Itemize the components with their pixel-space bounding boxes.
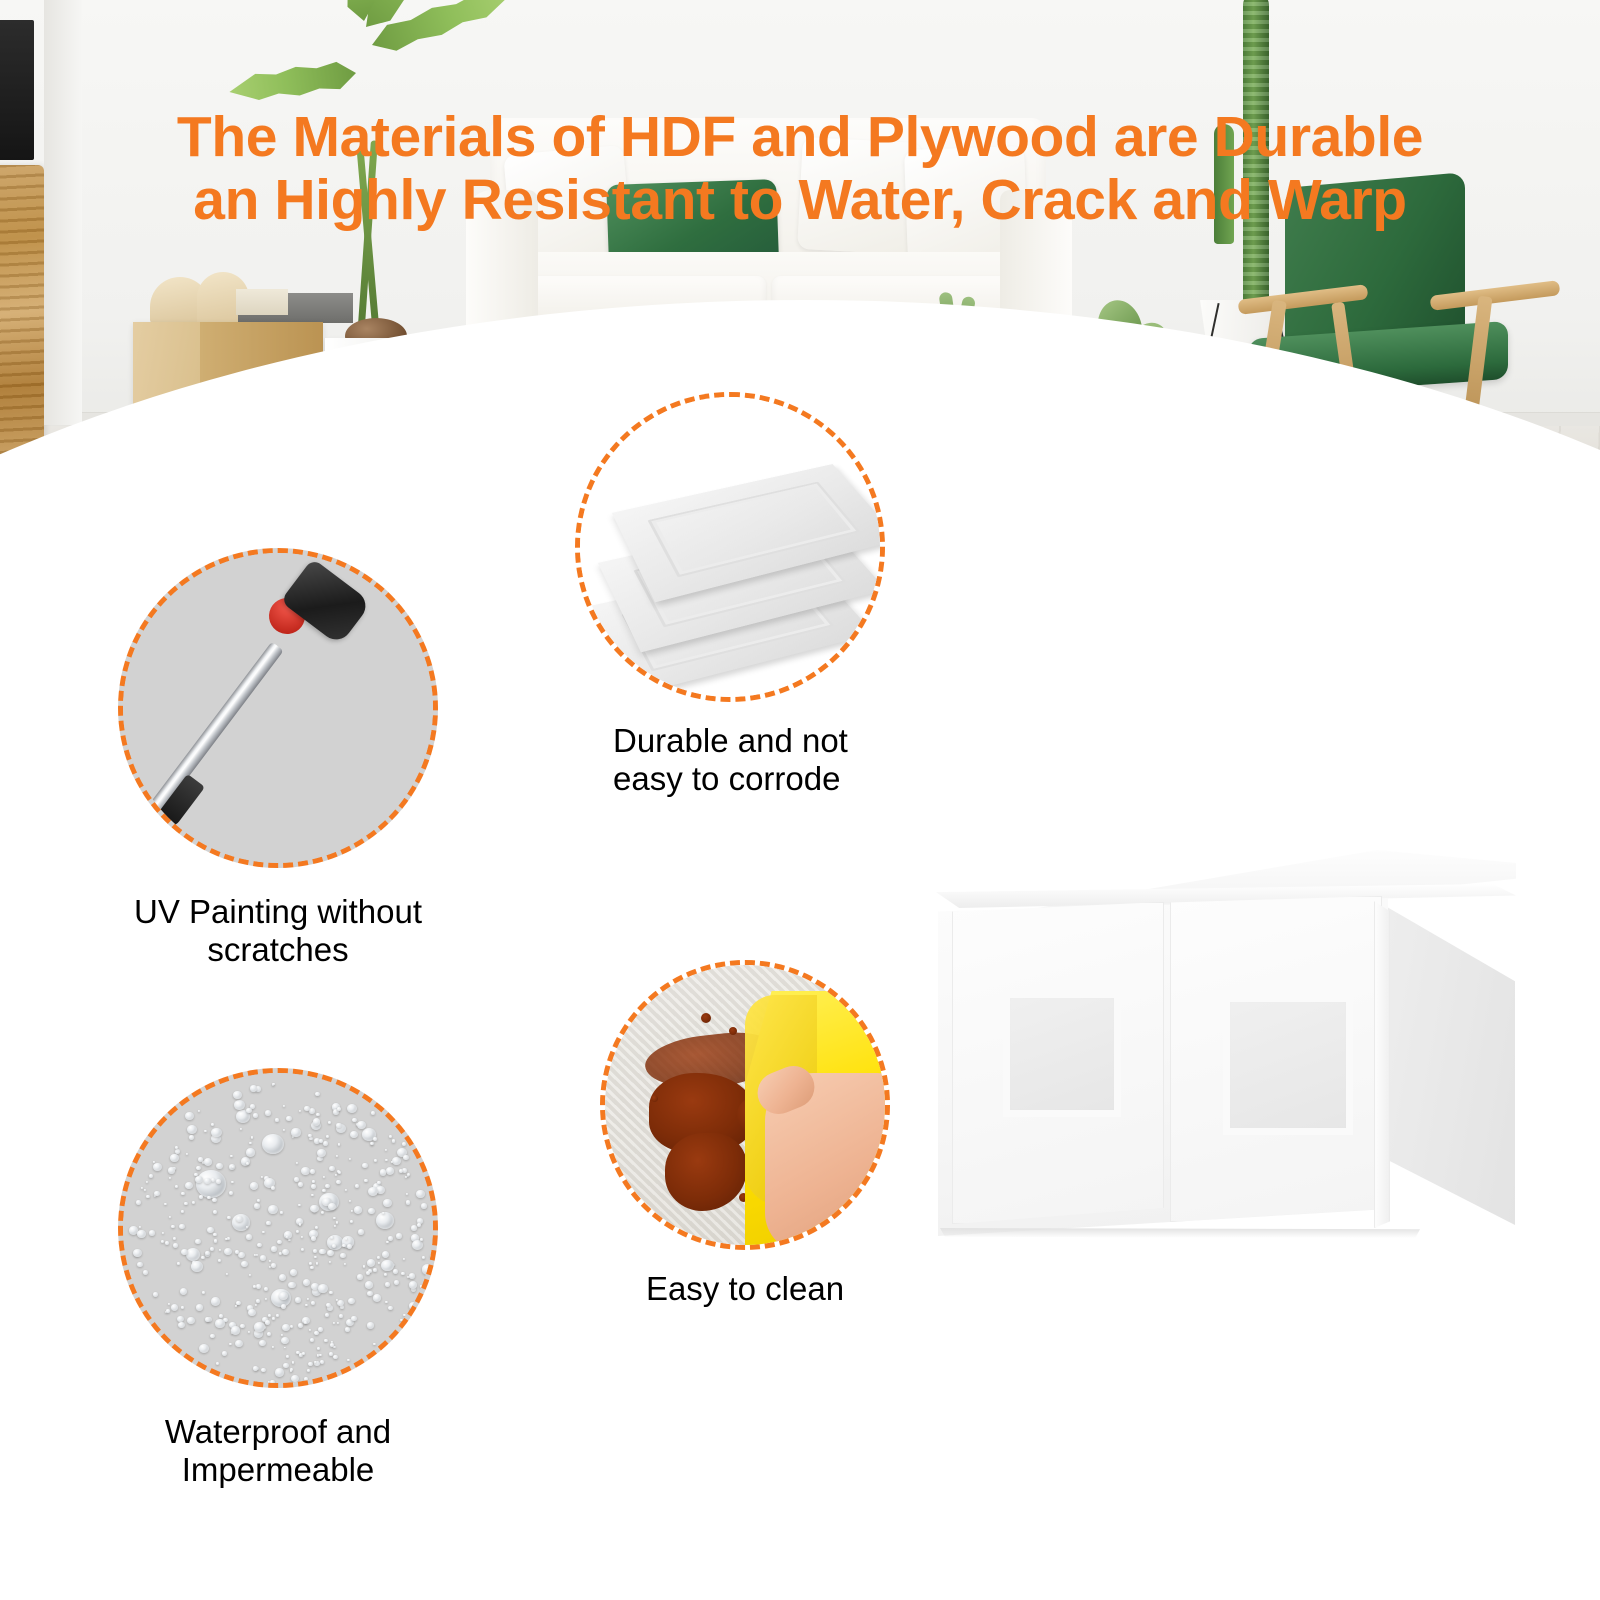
water-droplet [377,1181,381,1184]
water-droplet [347,1104,357,1113]
water-droplet [305,1304,307,1306]
water-droplet [171,1304,179,1311]
water-droplet [249,1274,251,1276]
water-droplet [211,1297,220,1306]
water-droplet [261,1176,264,1179]
water-droplet [216,1362,219,1365]
water-droplet [317,1149,326,1157]
water-droplet [298,1204,301,1207]
water-droplet [271,1186,275,1190]
water-droplet [256,1284,262,1289]
water-droplet [283,1105,285,1107]
water-droplet [304,1321,307,1324]
water-droplet [296,1162,298,1164]
water-droplet [226,1273,228,1275]
water-droplet [313,1249,317,1252]
water-droplet [259,1340,266,1346]
water-droplet [421,1203,427,1208]
water-droplet [181,1306,184,1308]
water-droplet [187,1317,194,1324]
water-droplet [368,1187,378,1196]
water-droplet [276,1314,278,1316]
water-droplet [219,1249,221,1251]
water-droplet [385,1149,387,1151]
water-droplet [291,1375,299,1382]
water-droplet [336,1299,338,1301]
water-droplet [355,1184,359,1188]
water-droplet [246,1148,255,1157]
water-droplet [216,1163,222,1169]
water-droplet [231,1181,234,1184]
water-droplet [334,1225,336,1227]
water-droplet [327,1250,333,1256]
water-droplet [383,1199,392,1207]
cabinet-door-left [952,902,1164,1224]
water-droplet [385,1159,388,1161]
water-droplet [268,1314,272,1318]
water-droplet [336,1221,338,1223]
water-droplet [165,1241,169,1245]
water-droplet [146,1195,149,1198]
water-droplet [374,1159,377,1162]
water-droplet [333,1346,335,1348]
water-droplet [279,1292,288,1300]
water-droplet [422,1264,433,1274]
water-droplet [260,1255,266,1260]
water-droplet [213,1210,217,1214]
water-droplet [301,1167,310,1175]
water-droplet [227,1216,231,1220]
water-droplet [323,1141,328,1145]
water-droplet [229,1191,233,1195]
water-droplet [351,1210,353,1212]
water-droplet [186,1153,189,1155]
water-droplet [288,1239,290,1241]
water-droplet [199,1344,209,1353]
water-droplet [281,1337,289,1344]
water-droplet [392,1139,396,1142]
page-title: The Materials of HDF and Plywood are Dur… [0,108,1600,229]
water-droplet [249,1142,252,1145]
water-droplet [345,1189,347,1191]
water-droplet [311,1184,316,1189]
water-droplet [230,1155,233,1157]
water-droplet [275,1368,284,1377]
water-droplet [367,1291,373,1296]
water-droplet [143,1270,149,1275]
water-droplet [198,1110,200,1112]
water-droplet [326,1303,331,1307]
water-droplet [185,1112,194,1121]
water-droplet [362,1163,368,1169]
water-droplet [246,1162,249,1165]
water-droplet [240,1324,245,1329]
water-droplet [311,1301,315,1305]
water-droplet [187,1125,197,1134]
water-droplet [280,1211,283,1213]
water-droplet [311,1194,313,1196]
water-droplet [195,1176,203,1184]
water-droplet [240,1128,242,1130]
water-droplet [417,1223,421,1227]
water-droplet [181,1249,188,1255]
water-droplet [323,1176,326,1179]
water-droplet [175,1185,178,1188]
water-droplet [271,1246,277,1252]
water-droplet [380,1169,387,1175]
water-droplet [385,1301,387,1303]
water-droplet [420,1285,423,1288]
water-droplet [384,1273,387,1276]
water-droplet [292,1361,295,1364]
water-droplet [264,1287,268,1291]
water-droplet [315,1226,318,1229]
water-droplet [215,1319,224,1328]
water-droplet [256,1299,260,1303]
water-droplet [166,1309,170,1312]
water-droplet [184,1202,187,1205]
water-droplet [219,1314,224,1318]
water-droplet [301,1248,304,1251]
water-droplet [382,1251,390,1258]
water-droplet [325,1313,329,1317]
water-droplet [320,1360,324,1364]
water-droplet [282,1249,289,1255]
water-droplet [262,1134,284,1154]
water-droplet [277,1240,282,1244]
water-droplet [349,1200,351,1202]
water-droplet [261,1368,266,1373]
water-droplet [328,1203,336,1211]
water-droplet [399,1169,403,1173]
water-droplet [396,1233,402,1238]
water-droplet [246,1226,248,1228]
water-droplet [338,1171,341,1174]
water-droplet [416,1190,424,1198]
water-droplet [333,1217,336,1220]
water-droplet [319,1249,325,1255]
water-droplet [265,1320,270,1325]
water-droplet [298,1323,303,1328]
water-droplet [367,1322,374,1328]
water-droplet [388,1236,393,1241]
water-droplet [265,1110,272,1116]
water-droplet [299,1223,302,1225]
water-droplet [409,1302,418,1310]
water-droplet [357,1274,363,1279]
water-droplet [347,1244,352,1249]
water-droplet [168,1167,175,1173]
water-droplet [299,1110,301,1112]
water-droplet [253,1285,256,1288]
water-droplet [319,1139,323,1142]
water-droplet [275,1118,279,1121]
water-droplet [286,1355,289,1358]
water-droplet [321,1211,324,1214]
water-droplet [211,1128,221,1137]
water-droplet [290,1370,292,1372]
water-droplet [169,1216,171,1218]
water-droplet [403,1155,409,1160]
water-droplet [253,1113,258,1117]
water-droplet [363,1265,366,1268]
water-droplet [267,1332,271,1336]
water-droplet [310,1266,313,1269]
water-droplet [307,1369,310,1372]
water-droplet [164,1203,166,1205]
water-droplet [350,1220,353,1223]
water-droplet [330,1236,334,1239]
water-droplet [269,1260,271,1262]
water-droplet [329,1261,331,1263]
water-droplet [198,1157,204,1162]
water-droplet [171,1225,175,1229]
water-droplet [254,1203,260,1209]
water-droplet [133,1249,142,1257]
water-droplet [185,1182,193,1189]
water-droplet [177,1262,180,1265]
water-droplet [173,1243,179,1248]
water-droplet [371,1111,376,1115]
water-droplet [268,1205,278,1214]
water-droplet [218,1259,222,1262]
water-droplet [336,1155,338,1157]
water-droplet [231,1326,240,1334]
water-droplet [257,1243,261,1247]
headline-line-1: The Materials of HDF and Plywood are Dur… [177,105,1423,169]
water-droplet [254,1254,256,1256]
water-droplet [386,1167,395,1175]
water-droplet [388,1306,393,1311]
water-droplet [368,1208,375,1214]
headline-line-2: an Highly Resistant to Water, Crack and … [0,171,1600,229]
feature-caption-easy-clean: Easy to clean [645,1270,845,1308]
water-droplet [281,1334,283,1336]
water-droplet [326,1135,329,1138]
water-droplet [283,1363,289,1369]
water-droplet [304,1106,309,1111]
water-droplet [295,1297,301,1302]
water-droplet [316,1262,319,1264]
water-droplet [322,1189,326,1192]
water-droplet [210,1334,214,1338]
water-droplet [317,1347,320,1350]
water-droplet [178,1322,185,1328]
water-droplet [195,1239,200,1244]
water-droplet [162,1232,164,1234]
water-droplet [211,1123,214,1126]
water-droplet [411,1225,417,1231]
water-droplet [377,1256,380,1259]
water-droplet [333,1355,338,1360]
water-droplet [309,1262,312,1265]
water-droplet [304,1377,309,1381]
water-droplet [364,1179,368,1182]
water-droplet [181,1192,185,1196]
water-droplet [318,1284,328,1293]
water-droplet [254,1322,264,1332]
water-droplet [236,1301,241,1305]
water-droplet [153,1163,162,1171]
water-droplet [314,1256,316,1258]
water-droplet [340,1253,346,1258]
water-droplet [201,1256,205,1260]
water-droplet [229,1343,231,1345]
water-droplet [192,1201,195,1204]
water-droplet [367,1259,375,1267]
water-droplet [339,1314,343,1318]
water-droplet [144,1189,146,1191]
water-droplet [233,1091,242,1099]
water-droplet [246,1108,251,1113]
water-droplet [350,1131,358,1138]
water-droplet [225,1238,228,1241]
water-droplet [365,1281,373,1289]
water-droplet [335,1174,337,1176]
water-droplet [352,1118,357,1123]
water-droplet [283,1129,285,1131]
water-droplet [205,1317,210,1321]
water-droplet [402,1142,406,1146]
water-droplet [303,1279,310,1285]
water-droplet [307,1298,309,1300]
water-droplet [204,1158,213,1166]
water-droplet [314,1331,319,1335]
water-droplet [262,1231,265,1234]
water-droplet [234,1100,245,1110]
water-droplet [302,1352,305,1355]
water-droplet [338,1143,341,1145]
water-droplet [265,1298,267,1300]
water-droplet [392,1157,401,1165]
water-droplet [409,1273,415,1278]
water-droplet [290,1269,297,1275]
water-droplet [337,1107,341,1111]
water-droplet [309,1137,313,1141]
water-droplet [207,1196,210,1199]
water-droplet [373,1268,377,1271]
water-droplet [394,1280,399,1285]
water-droplet [213,1233,217,1236]
water-droplet [284,1347,286,1349]
water-droplet [224,1248,232,1255]
water-droplet [313,1118,321,1125]
water-droplet [382,1212,384,1214]
water-droplet [298,1182,303,1187]
water-droplet [170,1154,178,1162]
water-droplet [196,1166,201,1170]
water-droplet [169,1177,171,1179]
water-droplet [272,1317,275,1320]
water-droplet [212,1198,217,1203]
water-droplet [146,1181,148,1183]
water-droplet [270,1380,275,1384]
water-droplet [403,1258,405,1260]
water-droplet [214,1239,218,1242]
water-droplet [301,1236,303,1238]
water-droplet [412,1240,423,1250]
water-droplet [406,1193,409,1195]
water-droplet [173,1237,176,1240]
water-droplet [136,1200,141,1205]
cabinet-door-right [1170,896,1382,1222]
water-droplet [137,1262,143,1267]
water-droplet [316,1113,319,1116]
water-droplet [336,1123,341,1128]
water-droplet [250,1182,258,1190]
water-droplet [246,1234,252,1240]
water-droplet [401,1272,405,1276]
water-droplet [257,1199,260,1202]
water-droplet [345,1327,349,1331]
water-droplet [328,1121,331,1124]
water-droplet [310,1205,318,1212]
water-droplet [319,1354,321,1356]
water-droplet [308,1362,313,1366]
water-droplet [312,1180,315,1183]
stacked-panels-icon [575,392,885,702]
water-droplet [137,1230,145,1238]
water-droplet [199,1195,203,1198]
water-droplet [342,1244,346,1247]
water-droplet [161,1240,164,1243]
water-droplet [389,1135,392,1138]
water-droplet [168,1303,170,1305]
water-droplet [189,1135,194,1139]
water-droplet [251,1136,254,1138]
water-droplet [204,1178,211,1184]
water-droplet [333,1322,335,1324]
water-droplet [248,1309,256,1316]
water-droplet [139,1226,141,1228]
water-droplet [393,1269,398,1274]
water-droplet [181,1210,184,1212]
water-droplet [186,1248,200,1261]
water-droplet [271,1263,276,1268]
water-droplet [337,1322,339,1324]
water-droplet [373,1294,381,1301]
water-droplet [308,1134,311,1137]
water-droplet [256,1254,259,1256]
water-droplet [310,1169,315,1174]
feature-caption-uv-painting: UV Painting without scratches [78,893,478,970]
water-droplet [248,1331,250,1333]
water-droplet [324,1339,328,1342]
water-droplet [348,1298,355,1304]
water-droplet [309,1108,315,1114]
water-droplet [309,1329,311,1331]
water-droplet [290,1325,293,1328]
water-droplet [281,1304,287,1309]
water-droplet [282,1324,290,1331]
water-droplet [407,1173,410,1176]
water-droplet [253,1366,258,1370]
water-droplet [291,1128,300,1136]
water-droplet [266,1221,270,1225]
water-droplet [344,1263,346,1265]
water-droplet [373,1137,377,1141]
water-droplet [358,1229,364,1235]
feature-caption-waterproof: Waterproof and Impermeable [78,1413,478,1490]
water-droplets-icon [118,1068,438,1388]
water-droplet [154,1191,160,1196]
water-droplet [315,1092,319,1096]
water-droplet [310,1338,314,1342]
water-droplet [196,1304,203,1310]
infographic-page: The Materials of HDF and Plywood are Dur… [0,0,1600,1600]
water-droplet [378,1262,380,1264]
water-droplet [202,1291,205,1294]
